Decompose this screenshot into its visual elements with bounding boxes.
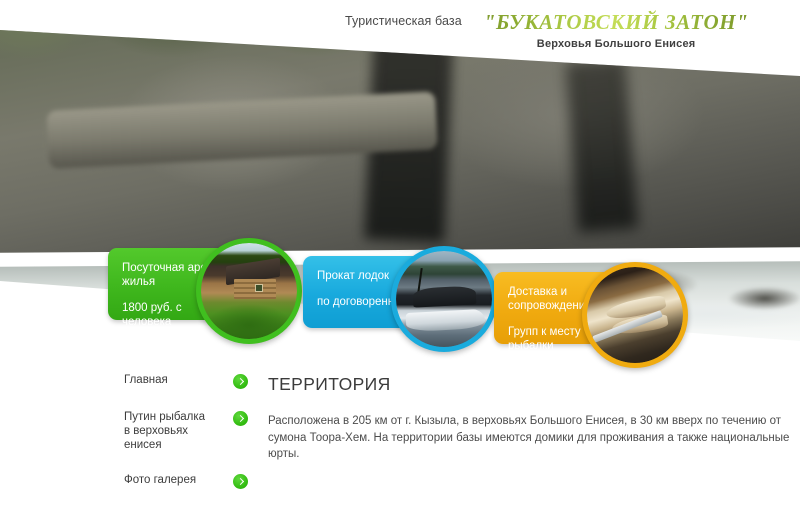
header-inner: Туристическая база "БУКАТОВСКИЙ ЗАТОН" В… xyxy=(345,10,748,50)
sidebar-item-fishing[interactable]: Путин рыбалка в верховьях енисея xyxy=(124,410,248,452)
fish-catch-photo xyxy=(587,267,683,363)
feature-photo-boat-rental[interactable] xyxy=(391,246,497,352)
brand-subtitle: Верховья Большого Енисея xyxy=(484,38,749,50)
sidebar-item-label: Фото галерея xyxy=(124,473,196,487)
content-heading: ТЕРРИТОРИЯ xyxy=(268,374,792,395)
brand-block[interactable]: "БУКАТОВСКИЙ ЗАТОН" Верховья Большого Ен… xyxy=(484,10,749,50)
main-content: ТЕРРИТОРИЯ Расположена в 205 км от г. Кы… xyxy=(268,374,792,463)
arrow-circle-icon[interactable] xyxy=(233,374,248,389)
boat-photo xyxy=(396,251,492,347)
header-kicker: Туристическая база xyxy=(345,10,462,28)
sidebar-item-home[interactable]: Главная xyxy=(124,373,248,389)
hero-gully-secondary xyxy=(565,59,638,233)
site-header: Туристическая база "БУКАТОВСКИЙ ЗАТОН" В… xyxy=(0,0,800,52)
boat-canopy-shape xyxy=(413,286,477,308)
arrow-circle-icon[interactable] xyxy=(233,474,248,489)
content-paragraph: Расположена в 205 км от г. Кызыла, в вер… xyxy=(268,413,792,463)
feature-photo-lodging[interactable] xyxy=(196,238,302,344)
boat-hull-shape xyxy=(405,308,485,331)
sidebar-item-label: Главная xyxy=(124,373,168,387)
sidebar-nav: Главная Путин рыбалка в верховьях енисея… xyxy=(124,373,248,510)
sidebar-item-label: Путин рыбалка в верховьях енисея xyxy=(124,410,212,452)
arrow-circle-icon[interactable] xyxy=(233,411,248,426)
cabin-photo xyxy=(201,243,297,339)
page-title: "БУКАТОВСКИЙ ЗАТОН" xyxy=(484,10,749,35)
feature-photo-delivery[interactable] xyxy=(582,262,688,368)
sidebar-item-gallery[interactable]: Фото галерея xyxy=(124,473,248,489)
cabin-window-shape xyxy=(255,284,264,292)
